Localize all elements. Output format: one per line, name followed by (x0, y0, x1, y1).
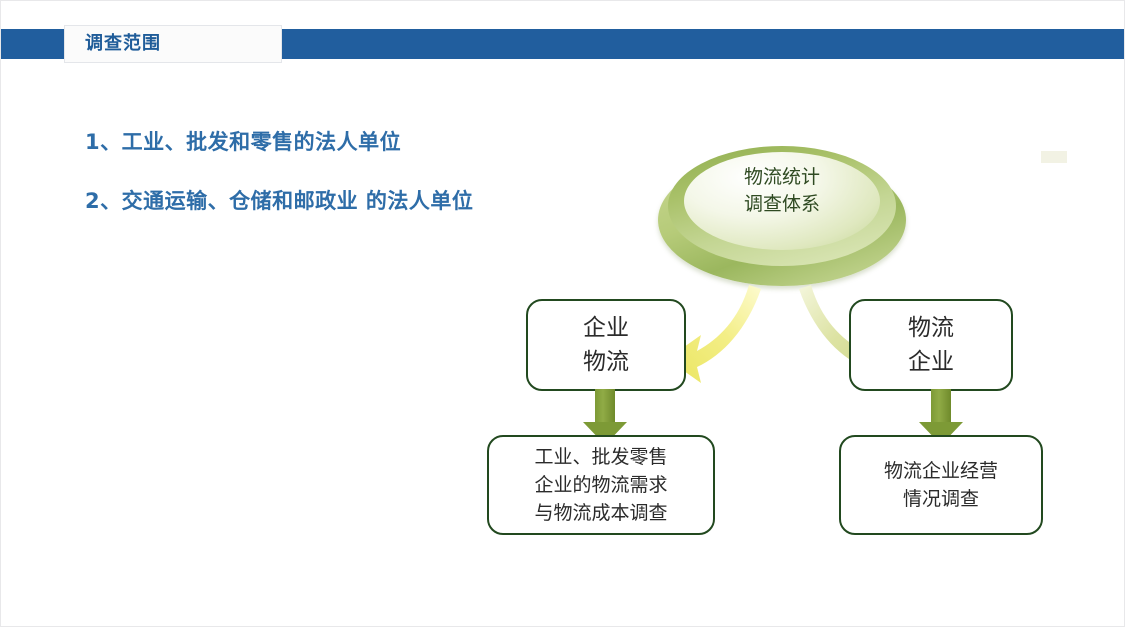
diagram-root-node: 物流统计 调查体系 (658, 144, 906, 292)
slide-canvas: 调查范围 1、工业、批发和零售的法人单位 2、交通运输、仓储和邮政业 的法人单位… (0, 0, 1125, 627)
faint-artifact-mark (1041, 151, 1067, 163)
page-title: 调查范围 (85, 32, 275, 56)
node-survey-left[interactable]: 工业、批发零售 企业的物流需求 与物流成本调查 (487, 435, 715, 535)
node-enterprise-logistics[interactable]: 企业 物流 (526, 299, 686, 391)
bullet-item-1: 1、工业、批发和零售的法人单位 (85, 126, 401, 156)
node-logistics-enterprise[interactable]: 物流 企业 (849, 299, 1013, 391)
bullet-item-2: 2、交通运输、仓储和邮政业 的法人单位 (85, 185, 473, 215)
arrow-shaft (595, 389, 615, 423)
arrow-shaft (931, 389, 951, 423)
diagram-root-label: 物流统计 调查体系 (684, 164, 880, 218)
node-survey-right[interactable]: 物流企业经营 情况调查 (839, 435, 1043, 535)
